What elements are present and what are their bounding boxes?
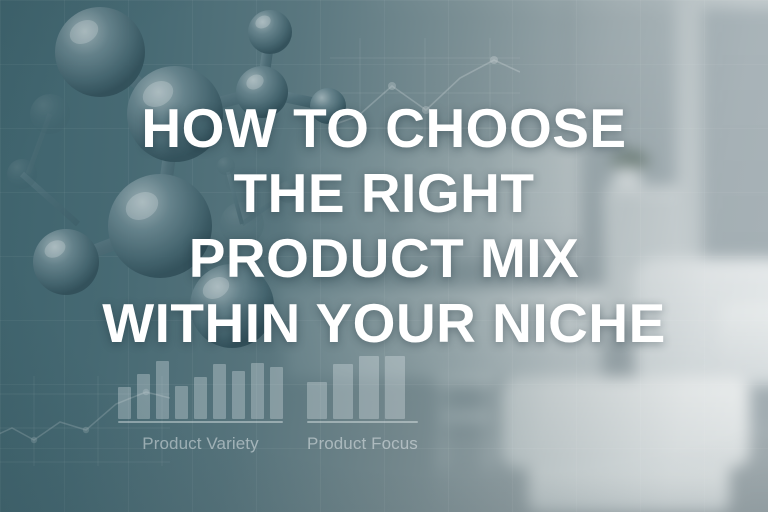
promo-banner: Product Variety Product Focus HOW TO CHO… — [0, 0, 768, 512]
vignette-overlay — [0, 0, 768, 512]
